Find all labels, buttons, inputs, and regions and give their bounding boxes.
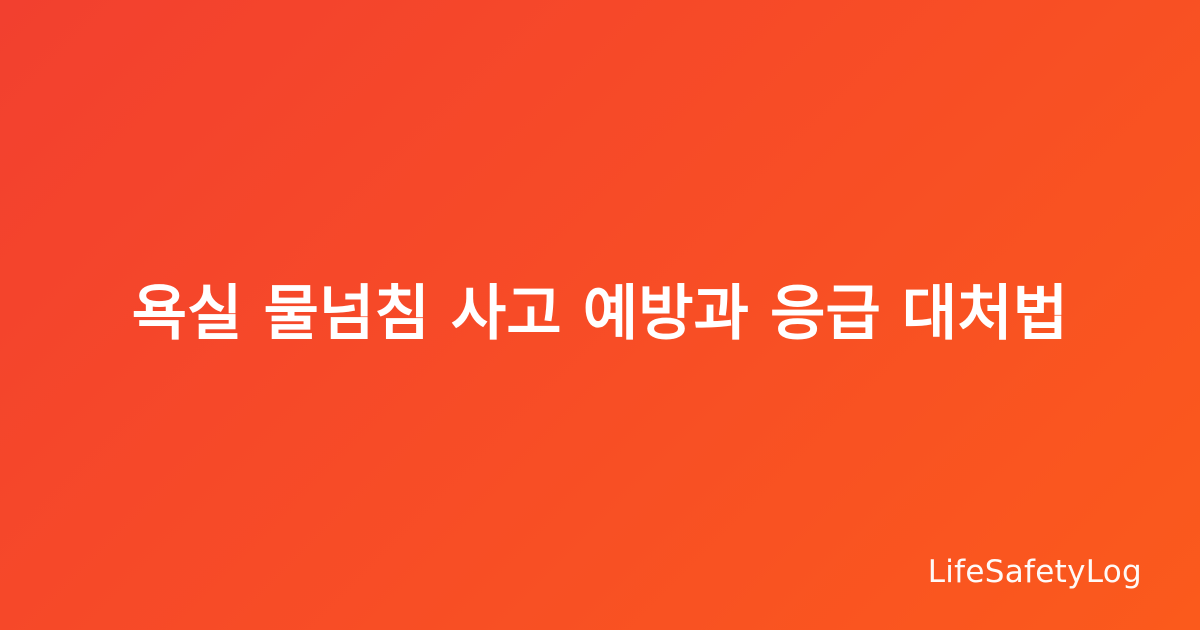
social-share-card: 욕실 물넘침 사고 예방과 응급 대처법 LifeSafetyLog	[0, 0, 1200, 630]
headline-container: 욕실 물넘침 사고 예방과 응급 대처법	[0, 0, 1200, 630]
site-watermark: LifeSafetyLog	[928, 557, 1142, 588]
page-title: 욕실 물넘침 사고 예방과 응급 대처법	[80, 275, 1120, 354]
